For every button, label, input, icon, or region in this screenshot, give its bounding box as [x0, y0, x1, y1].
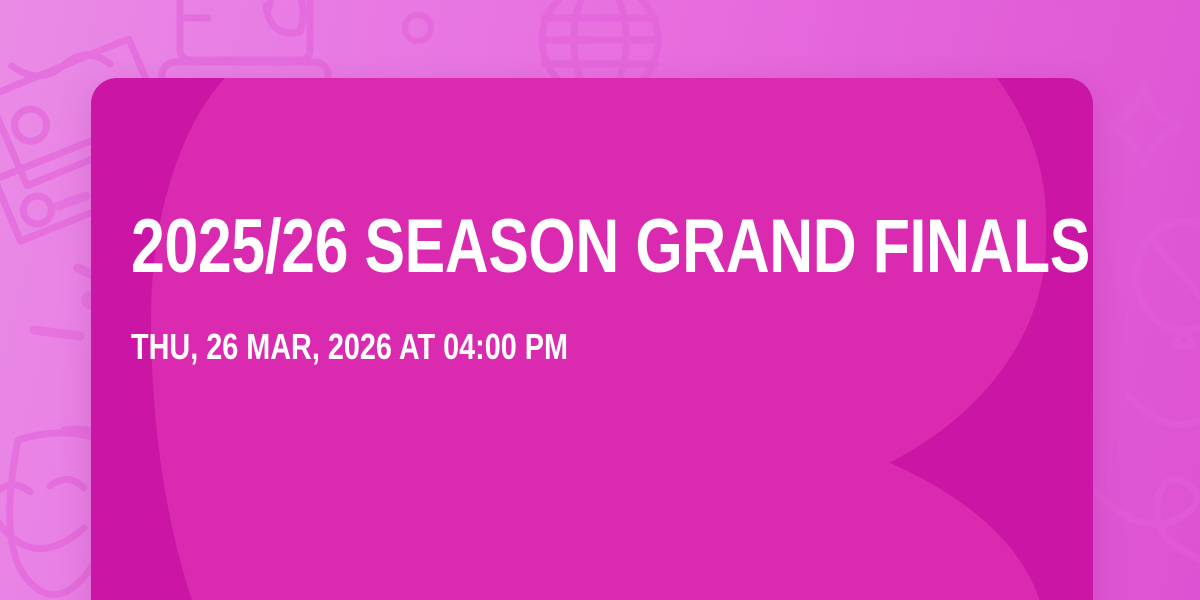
event-hero-banner: 2025/26 Season Grand Finals Thu, 26 Mar,…: [0, 0, 1200, 600]
stage-lights-icon: [162, 0, 328, 88]
event-card[interactable]: 2025/26 Season Grand Finals Thu, 26 Mar,…: [91, 78, 1093, 600]
event-datetime: Thu, 26 Mar, 2026 at 04:00 PM: [131, 328, 869, 366]
sparkle-small-icon: [1038, 7, 1081, 51]
circle-outline-icon: [405, 15, 431, 41]
streamer-curl-icon: [1130, 390, 1200, 424]
streamer-curl-icon: [1090, 479, 1200, 560]
balloon-icon: [1136, 222, 1200, 346]
event-title: 2025/26 Season Grand Finals: [131, 208, 869, 286]
sparkle-four-point-icon: [1108, 86, 1180, 168]
brand-watermark-bottom-lobe: [186, 414, 1046, 600]
event-card-text-block: 2025/26 Season Grand Finals Thu, 26 Mar,…: [131, 208, 1053, 365]
